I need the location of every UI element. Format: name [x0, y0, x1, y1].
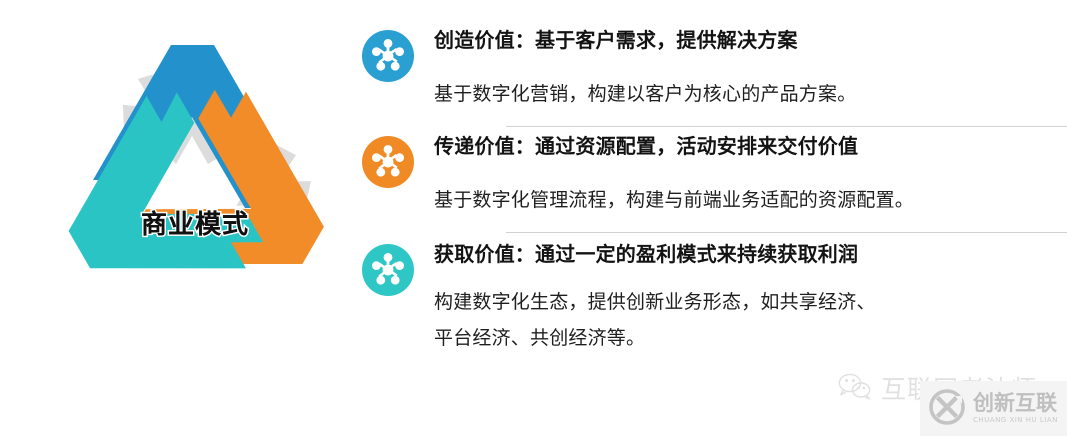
item-body: 构建数字化生态，提供创新业务形态，如共享经济、 平台经济、共创经济等。: [434, 284, 1052, 356]
divider: [506, 126, 1067, 127]
value-proposition-list: 创造价值：基于客户需求，提供解决方案 基于数字化营销，构建以客户为核心的产品方案…: [362, 26, 1052, 356]
item-body: 基于数字化管理流程，构建与前端业务适配的资源配置。: [434, 182, 1052, 218]
wechat-icon: [838, 372, 872, 404]
brand-watermark-words: 创新互联 CHUANG XIN HU LIAN: [973, 393, 1058, 424]
network-hub-icon: [362, 244, 414, 296]
item-body: 基于数字化营销，构建以客户为核心的产品方案。: [434, 76, 1052, 112]
network-hub-icon: [362, 136, 414, 188]
item-heading: 传递价值：通过资源配置，活动安排来交付价值: [434, 132, 1052, 160]
logo-caption: 商业模式: [40, 204, 350, 241]
brand-watermark: 创新互联 CHUANG XIN HU LIAN: [920, 381, 1067, 436]
network-hub-icon: [362, 30, 414, 82]
brand-name-pinyin: CHUANG XIN HU LIAN: [973, 417, 1058, 424]
list-item: 传递价值：通过资源配置，活动安排来交付价值 基于数字化管理流程，构建与前端业务适…: [362, 132, 1052, 240]
triangle-cycle-graphic: [40, 18, 350, 318]
item-heading: 获取价值：通过一定的盈利模式来持续获取利润: [434, 240, 1052, 268]
divider: [506, 232, 1067, 233]
list-item: 获取价值：通过一定的盈利模式来持续获取利润 构建数字化生态，提供创新业务形态，如…: [362, 240, 1052, 356]
list-item: 创造价值：基于客户需求，提供解决方案 基于数字化营销，构建以客户为核心的产品方案…: [362, 26, 1052, 132]
business-model-logo: 商业模式 商业模式: [40, 18, 350, 318]
item-heading: 创造价值：基于客户需求，提供解决方案: [434, 26, 1052, 54]
cx-logo-icon: [928, 388, 966, 430]
brand-name-cn: 创新互联: [973, 393, 1058, 414]
